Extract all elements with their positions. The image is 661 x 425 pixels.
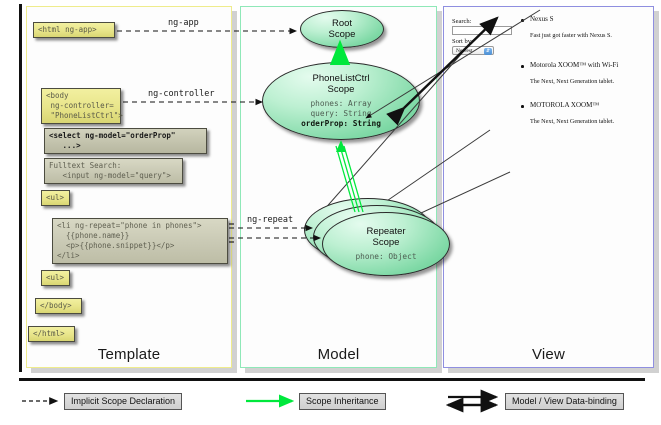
view-panel-title: View (444, 346, 653, 363)
view-sort-label: Sort by: (452, 38, 473, 45)
legend-item-scope-inheritance: Scope Inheritance (299, 393, 386, 410)
model-panel-title: Model (241, 346, 436, 363)
scope-root: Root Scope (300, 10, 384, 48)
scope-phonelistctrl-props: phones: Array query: String orderProp: S… (301, 99, 381, 129)
scope-repeater: Repeater Scope phone: Object (322, 212, 450, 276)
code-li-ng-repeat: <li ng-repeat="phone in phones"> {{phone… (52, 218, 228, 264)
code-ul-close: <ul> (41, 270, 70, 286)
view-search-label: Search: (452, 18, 472, 25)
list-bullet-icon (521, 105, 524, 108)
code-body-open: <body ng-controller= "PhoneListCtrl"> (41, 88, 121, 124)
scope-phonelistctrl-props-plain: phones: Array query: String (310, 99, 371, 118)
diagram-root: Template Model View <html ng-app> < (0, 0, 661, 425)
view-phone-snippet-1: The Next, Next Generation tablet. (530, 78, 614, 85)
model-panel: Model (240, 6, 437, 368)
edge-label-ng-repeat: ng-repeat (247, 215, 293, 225)
chevron-updown-icon: ⇵ (484, 48, 492, 55)
legend-top-rule (19, 378, 645, 381)
code-html-close: </html> (28, 326, 75, 342)
scope-repeater-props: phone: Object (355, 252, 416, 262)
code-html-open: <html ng-app> (33, 22, 115, 38)
code-select-orderprop: <select ng-model="orderProp" ...> (44, 128, 207, 154)
edge-label-ng-controller: ng-controller (148, 89, 215, 99)
list-bullet-icon (521, 19, 524, 22)
view-sort-selected-value: Newest (456, 48, 473, 54)
view-phone-name-2[interactable]: MOTOROLA XOOM™ (530, 101, 599, 109)
left-vertical-rule (19, 4, 22, 372)
code-fulltext-search: Fulltext Search: <input ng-model="query"… (44, 158, 183, 184)
view-search-input[interactable] (452, 26, 512, 35)
code-body-close: </body> (35, 298, 82, 314)
scope-repeater-line2: Scope (373, 237, 400, 248)
view-phone-snippet-0: Fast just got faster with Nexus S. (530, 32, 612, 39)
scope-phonelistctrl-props-bold: orderProp: String (301, 119, 381, 128)
legend-item-model-view-data-binding: Model / View Data-binding (505, 393, 624, 410)
view-phone-name-0[interactable]: Nexus S (530, 15, 554, 23)
edge-label-ng-app: ng-app (168, 18, 199, 28)
scope-phonelistctrl: PhoneListCtrl Scope phones: Array query:… (262, 62, 420, 140)
view-sort-select[interactable]: Newest ⇵ (452, 46, 494, 55)
scope-root-line2: Scope (329, 29, 356, 40)
view-phone-snippet-2: The Next, Next Generation tablet. (530, 118, 614, 125)
list-bullet-icon (521, 65, 524, 68)
scope-phonelistctrl-line1: PhoneListCtrl (312, 73, 369, 84)
template-panel-title: Template (27, 346, 231, 363)
scope-phonelistctrl-line2: Scope (328, 84, 355, 95)
scope-root-line1: Root (332, 18, 352, 29)
scope-repeater-line1: Repeater (366, 226, 405, 237)
legend-item-implicit-scope-declaration: Implicit Scope Declaration (64, 393, 182, 410)
view-phone-name-1[interactable]: Motorola XOOM™ with Wi-Fi (530, 61, 618, 69)
code-ul-open: <ul> (41, 190, 70, 206)
